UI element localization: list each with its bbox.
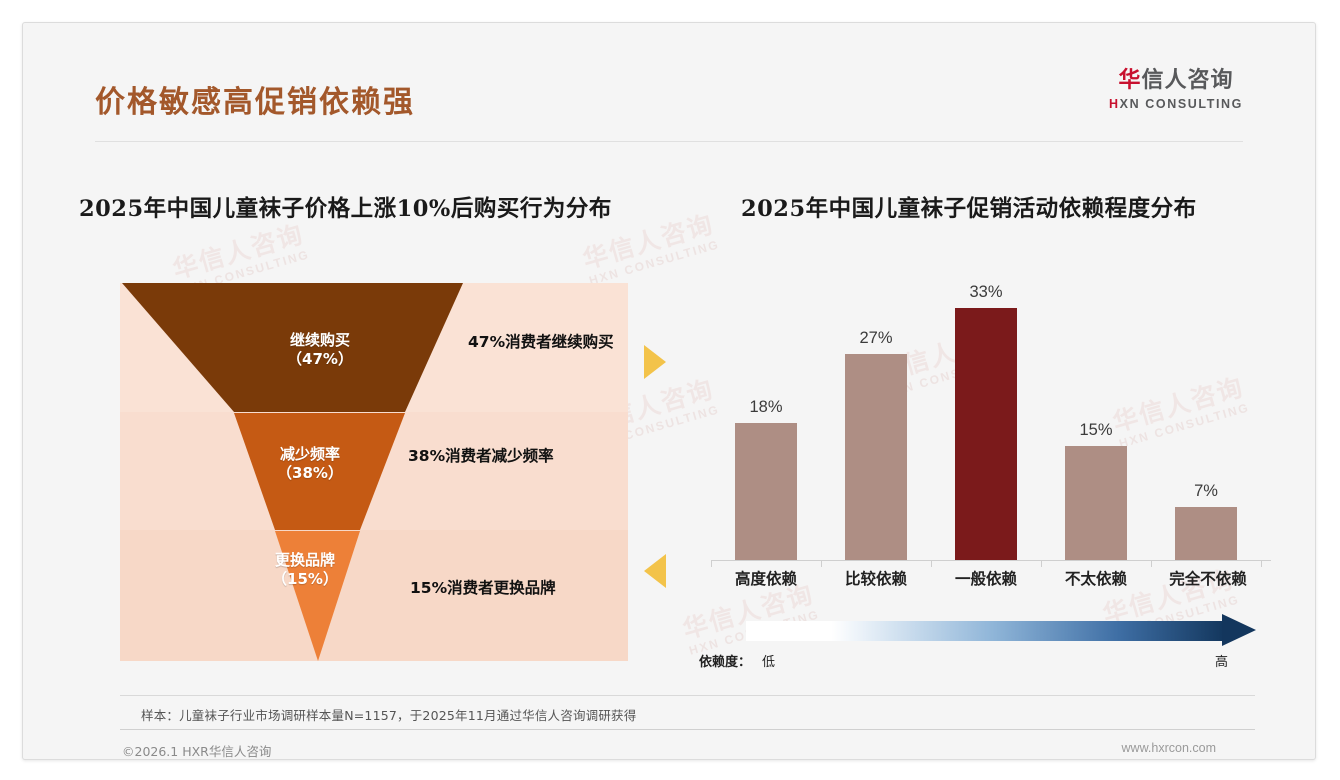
bar-item[interactable]: 7% <box>1156 482 1256 560</box>
bar-rect[interactable] <box>735 423 797 560</box>
company-logo: 华信人咨询 HXN CONSULTING <box>1109 69 1243 111</box>
funnel-segment-label-2: 更换品牌 （15%） <box>245 551 365 589</box>
arrow-head-icon <box>1222 614 1256 646</box>
bar-item[interactable]: 15% <box>1046 421 1146 560</box>
bar-value-label: 7% <box>1194 482 1218 501</box>
bar-item[interactable]: 18% <box>716 398 816 560</box>
gradient-bar <box>746 621 1222 641</box>
x-axis-labels: 高度依赖 比较依赖 一般依赖 不太依赖 完全不依赖 <box>711 565 1271 593</box>
bar-rect-highlight[interactable] <box>955 308 1017 560</box>
bar-item[interactable]: 27% <box>826 329 926 560</box>
funnel-segment-name-0: 继续购买 <box>230 331 410 350</box>
funnel-segment-value-0: （47%） <box>230 350 410 369</box>
right-chart-title: 2025年中国儿童袜子促销活动依赖程度分布 <box>741 191 1197 223</box>
source-note: 样本：儿童袜子行业市场调研样本量N=1157，于2025年11月通过华信人咨询调… <box>141 705 636 724</box>
website-link[interactable]: www.hxrcon.com <box>1122 741 1216 755</box>
dependency-gradient-scale <box>746 617 1256 643</box>
footnote-divider <box>120 695 1255 696</box>
funnel-segment-value-2: （15%） <box>245 570 365 589</box>
funnel-segment-name-1: 减少频率 <box>220 445 400 464</box>
funnel-segment-label-1: 减少频率 （38%） <box>220 445 400 483</box>
bar-value-label: 27% <box>859 329 892 348</box>
copyright-text: ©2026.1 HXR华信人咨询 <box>122 741 271 760</box>
watermark-line2: HXN CONSULTING <box>588 238 722 289</box>
x-axis-label: 比较依赖 <box>821 567 931 589</box>
bar-value-label: 18% <box>749 398 782 417</box>
funnel-segment-value-1: （38%） <box>220 464 400 483</box>
triangle-right-icon <box>644 345 666 379</box>
slide: 华信人咨询 HXN CONSULTING 华信人咨询 HXN CONSULTIN… <box>22 22 1316 760</box>
page-title: 价格敏感高促销依赖强 <box>95 77 415 121</box>
x-axis-label: 高度依赖 <box>711 567 821 589</box>
logo-chinese: 华信人咨询 <box>1109 69 1243 93</box>
funnel-annotation-2: 15%消费者更换品牌 <box>410 576 556 598</box>
funnel-segment-name-2: 更换品牌 <box>245 551 365 570</box>
funnel-annotation-0: 47%消费者继续购买 <box>468 330 614 352</box>
slide-header: 价格敏感高促销依赖强 华信人咨询 HXN CONSULTING <box>23 23 1315 123</box>
x-axis-label: 完全不依赖 <box>1153 567 1263 589</box>
bar-series: 18% 27% 33% 15% 7% <box>711 293 1271 593</box>
scale-legend-high: 高 <box>1215 651 1228 670</box>
bar-rect[interactable] <box>845 354 907 560</box>
funnel-chart: 继续购买 （47%） 减少频率 （38%） 更换品牌 （15%） 47%消费者继… <box>120 283 628 661</box>
scale-legend: 依赖度： 低 高 <box>699 651 1259 673</box>
logo-english: HXN CONSULTING <box>1109 97 1243 111</box>
funnel-segment-label-0: 继续购买 （47%） <box>230 331 410 369</box>
logo-chinese-red: 华 <box>1118 68 1141 93</box>
bar-value-label: 33% <box>969 283 1002 302</box>
bar-chart: 18% 27% 33% 15% 7% 高度依赖 比较依赖 一般 <box>711 293 1271 593</box>
left-chart-title: 2025年中国儿童袜子价格上涨10%后购买行为分布 <box>79 191 612 223</box>
bar-rect[interactable] <box>1175 507 1237 560</box>
bar-item[interactable]: 33% <box>936 283 1036 560</box>
bar-rect[interactable] <box>1065 446 1127 560</box>
triangle-left-icon <box>644 554 666 588</box>
logo-english-red: H <box>1109 97 1120 111</box>
funnel-annotation-1: 38%消费者减少频率 <box>408 444 554 466</box>
x-axis-label: 不太依赖 <box>1041 567 1151 589</box>
bar-value-label: 15% <box>1079 421 1112 440</box>
x-axis-label: 一般依赖 <box>931 567 1041 589</box>
scale-legend-label: 依赖度： <box>699 651 751 670</box>
header-divider <box>95 141 1243 142</box>
logo-chinese-rest: 信人咨询 <box>1142 68 1234 93</box>
logo-english-rest: XN CONSULTING <box>1120 97 1243 111</box>
footer-divider <box>120 729 1255 730</box>
watermark-line1: 华信人咨询 <box>170 220 308 285</box>
scale-legend-low: 低 <box>762 651 775 670</box>
